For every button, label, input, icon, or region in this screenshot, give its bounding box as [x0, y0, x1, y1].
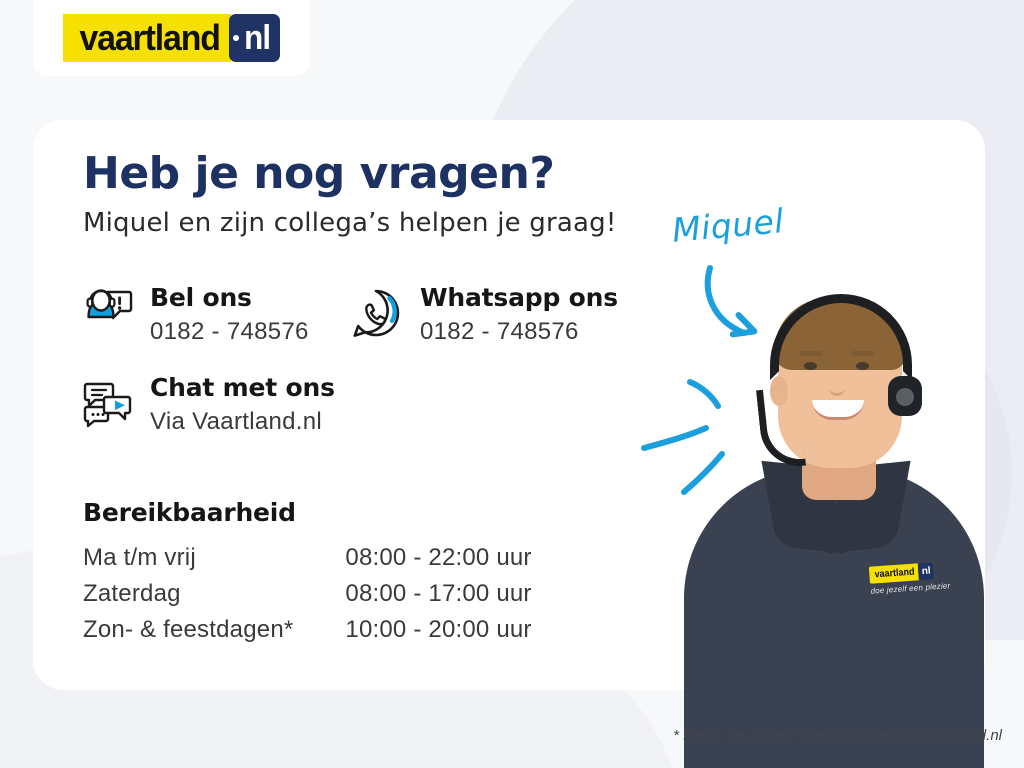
logo-navy-block: nl — [229, 14, 280, 62]
shirt-logo-yellow: vaartland — [869, 563, 920, 583]
vaartland-logo-mark: vaartland nl — [63, 14, 280, 62]
contact-whatsapp-number[interactable]: 0182 - 748576 — [420, 318, 618, 346]
contact-call-title: Bel ons — [150, 284, 309, 312]
table-row: Ma t/m vrij 08:00 - 22:00 uur — [83, 540, 532, 576]
shirt-tagline: doe jezelf een plezier — [870, 581, 948, 595]
chat-bubbles-icon — [78, 373, 134, 429]
contact-chat-title: Chat met ons — [150, 374, 335, 402]
contact-whatsapp[interactable]: Whatsapp ons 0182 - 748576 — [348, 283, 618, 346]
page-subtitle: Miquel en zijn collega’s helpen je graag… — [83, 208, 616, 238]
headset-band-icon — [770, 294, 912, 380]
hours-day: Zaterdag — [83, 576, 345, 612]
logo-tld: nl — [244, 19, 270, 58]
whatsapp-icon — [348, 283, 404, 339]
logo-yellow-block: vaartland — [63, 14, 230, 62]
table-row: Zaterdag 08:00 - 17:00 uur — [83, 576, 532, 612]
hours-time: 10:00 - 20:00 uur — [345, 612, 531, 648]
agent-photo: vaartland nl doe jezelf een plezier — [674, 198, 994, 768]
contact-call[interactable]: Bel ons 0182 - 748576 — [78, 283, 309, 346]
contact-call-number[interactable]: 0182 - 748576 — [150, 318, 309, 346]
hours-title: Bereikbaarheid — [83, 498, 296, 527]
brand-logo[interactable]: vaartland nl — [33, 0, 310, 76]
opening-hours-table: Ma t/m vrij 08:00 - 22:00 uur Zaterdag 0… — [83, 540, 532, 648]
hours-day: Ma t/m vrij — [83, 540, 345, 576]
contact-whatsapp-text: Whatsapp ons 0182 - 748576 — [420, 283, 618, 346]
headset-earcup-center — [896, 388, 914, 406]
logo-wordmark: vaartland — [80, 17, 220, 59]
page-title: Heb je nog vragen? — [83, 148, 554, 199]
footer-note: * Bekijk de actuele openingstijden op Va… — [673, 727, 1002, 744]
shirt-logo-navy: nl — [918, 562, 934, 580]
shirt-logo-tld: nl — [921, 565, 931, 577]
table-row: Zon- & feestdagen* 10:00 - 20:00 uur — [83, 612, 532, 648]
contact-chat-text: Chat met ons Via Vaartland.nl — [150, 373, 335, 436]
logo-dot-icon — [233, 35, 239, 41]
contact-call-text: Bel ons 0182 - 748576 — [150, 283, 309, 346]
hours-time: 08:00 - 17:00 uur — [345, 576, 531, 612]
hours-day: Zon- & feestdagen* — [83, 612, 345, 648]
hours-time: 08:00 - 22:00 uur — [345, 540, 531, 576]
contact-chat[interactable]: Chat met ons Via Vaartland.nl — [78, 373, 335, 436]
shirt-logo-wordmark: vaartland — [874, 567, 915, 581]
headset-person-icon — [78, 283, 134, 339]
contact-whatsapp-title: Whatsapp ons — [420, 284, 618, 312]
promo-banner: vaartland nl Heb je nog vragen? Miquel e… — [0, 0, 1024, 768]
shirt-logo: vaartland nl doe jezelf een plezier — [869, 561, 949, 602]
headset-microphone-icon — [756, 386, 806, 470]
contact-chat-link[interactable]: Via Vaartland.nl — [150, 408, 335, 436]
